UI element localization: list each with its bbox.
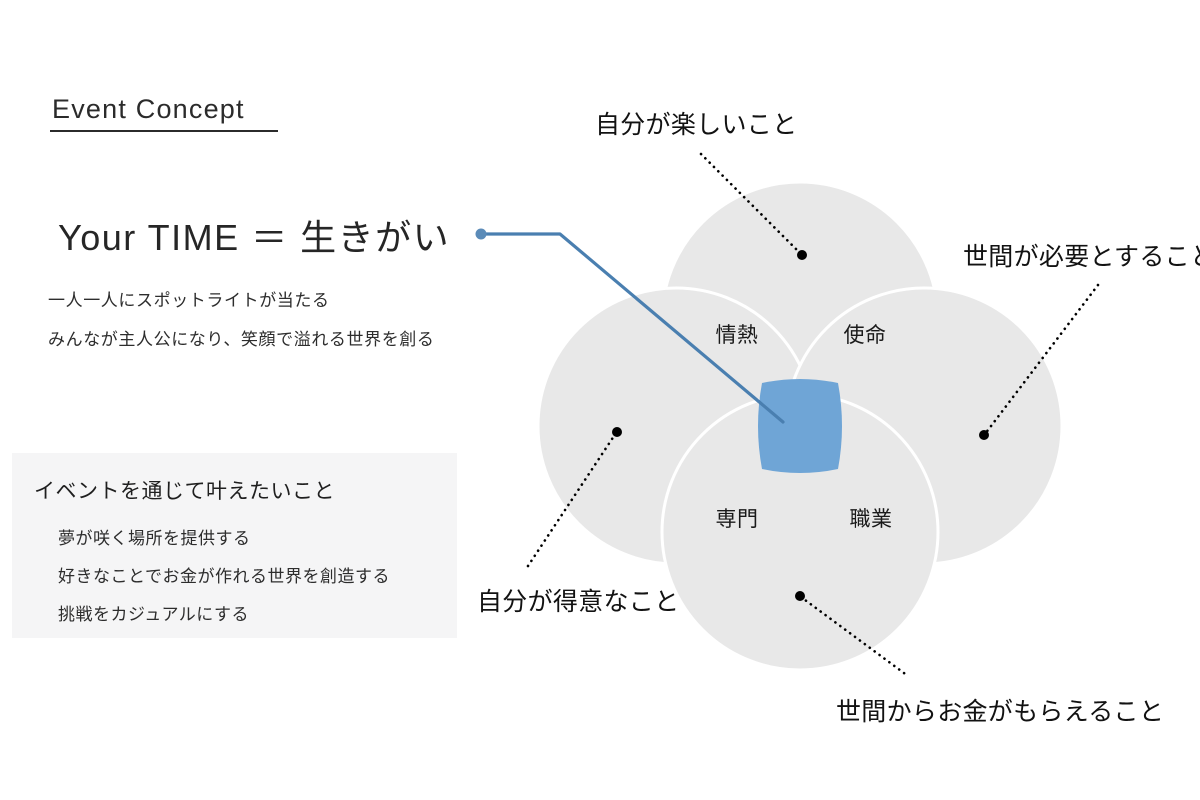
leader-dot-left — [612, 427, 622, 437]
venn-label-mission: 使命 — [844, 319, 887, 349]
leader-line-bottom — [801, 597, 908, 676]
leader-dot-top — [797, 250, 807, 260]
venn-circle-bottom — [662, 394, 938, 670]
leader-dot-bottom — [795, 591, 805, 601]
goals-panel-title: イベントを通じて叶えたいこと — [34, 475, 335, 505]
callout-label-top: 自分が楽しいこと — [595, 105, 797, 141]
headline: Your TIME ＝ 生きがい — [58, 209, 450, 261]
callout-label-right: 世間が必要とすること — [963, 237, 1200, 273]
venn-circle-right — [786, 288, 1062, 564]
list-item: 夢が咲く場所を提供する — [58, 524, 251, 549]
subline-1: 一人一人にスポットライトが当たる — [48, 286, 330, 311]
callout-label-left: 自分が得意なこと — [477, 582, 679, 618]
leader-dot-right — [979, 430, 989, 440]
venn-circle-left — [538, 288, 814, 564]
venn-center-highlight — [758, 379, 842, 473]
list-item: 好きなことでお金が作れる世界を創造する — [58, 562, 390, 587]
page-title-underline — [50, 130, 278, 132]
list-item: 挑戦をカジュアルにする — [58, 600, 249, 625]
leader-line-right — [985, 285, 1098, 434]
leader-line-left — [528, 433, 616, 566]
leader-line-top — [701, 154, 801, 254]
slide-canvas: Event Concept Your TIME ＝ 生きがい 一人一人にスポット… — [0, 0, 1200, 800]
leader-dots — [612, 250, 989, 601]
venn-label-passion: 情熱 — [716, 319, 759, 349]
page-title: Event Concept — [52, 94, 245, 125]
venn-label-vocation: 職業 — [850, 503, 893, 533]
subline-2: みんなが主人公になり、笑顔で溢れる世界を創る — [48, 325, 435, 350]
callout-label-bottom: 世間からお金がもらえること — [836, 692, 1164, 728]
venn-label-profession: 専門 — [716, 503, 759, 533]
venn-circle-top — [662, 182, 938, 458]
